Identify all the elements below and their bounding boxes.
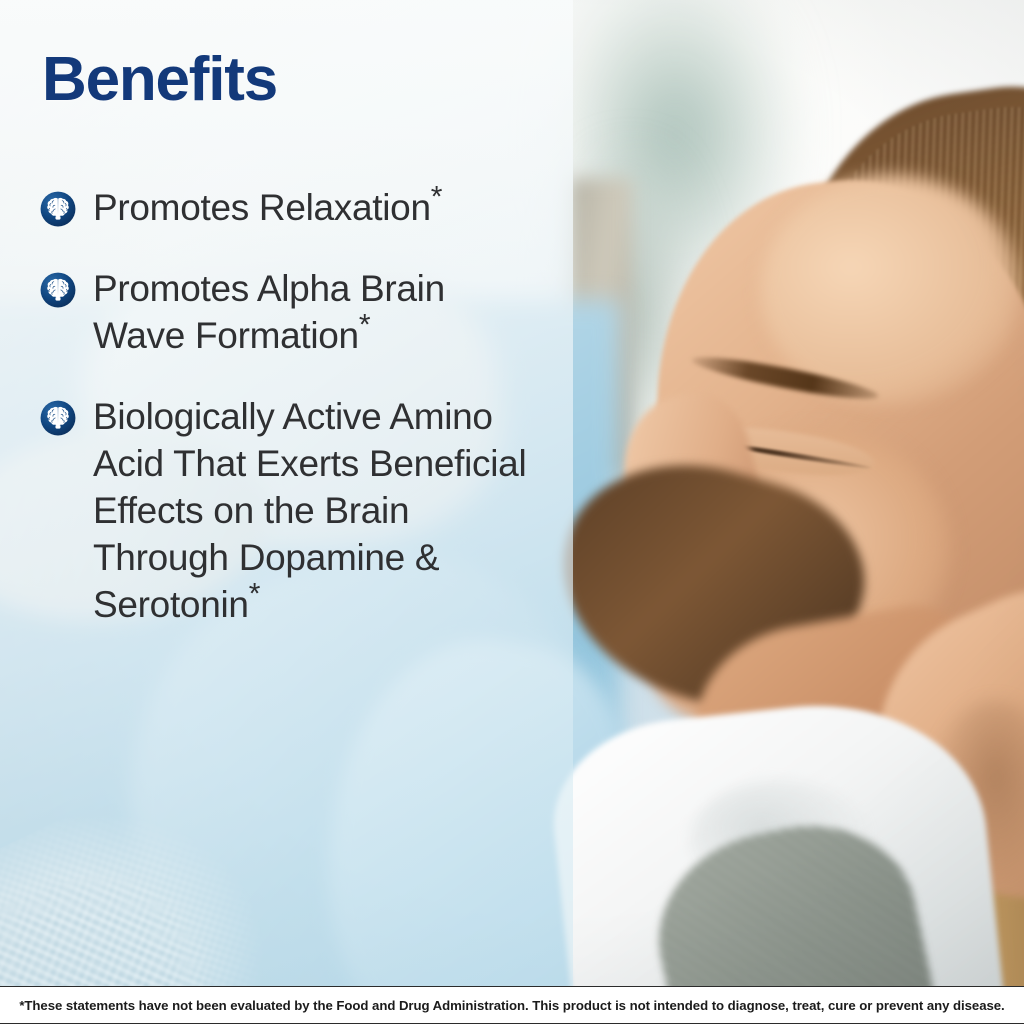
- benefit-label: Promotes Alpha Brain Wave Formation*: [93, 266, 545, 360]
- disclaimer-text: *These statements have not been evaluate…: [19, 998, 1004, 1013]
- list-item: Promotes Alpha Brain Wave Formation*: [40, 266, 560, 360]
- footnote-marker: *: [359, 309, 370, 342]
- list-item: Promotes Relaxation*: [40, 185, 560, 232]
- footnote-marker: *: [249, 578, 260, 611]
- benefits-content: Benefits: [0, 0, 573, 1024]
- product-benefits-graphic: Benefits: [0, 0, 1024, 1024]
- benefits-list: Promotes Relaxation*: [40, 185, 560, 663]
- brain-icon: [40, 400, 76, 436]
- brain-icon: [40, 272, 76, 308]
- brain-icon: [40, 191, 76, 227]
- list-item: Biologically Active Amino Acid That Exer…: [40, 394, 560, 629]
- disclaimer-bar: *These statements have not been evaluate…: [0, 986, 1024, 1024]
- benefit-label: Biologically Active Amino Acid That Exer…: [93, 394, 545, 629]
- page-title: Benefits: [42, 49, 277, 111]
- benefit-label: Promotes Relaxation*: [93, 185, 442, 232]
- footnote-marker: *: [431, 181, 442, 214]
